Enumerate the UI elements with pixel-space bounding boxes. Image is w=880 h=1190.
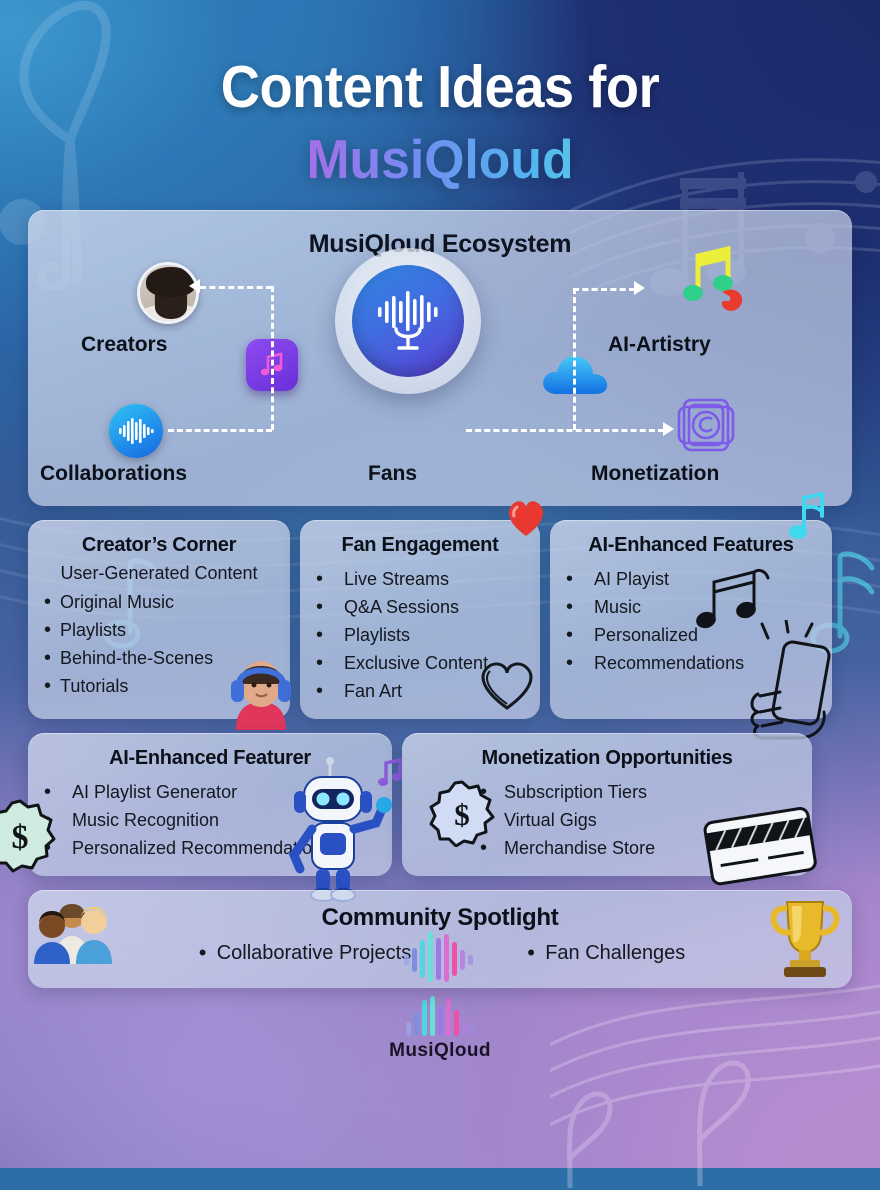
music-note-palette-icon bbox=[682, 246, 748, 325]
waveform-logo-icon bbox=[18, 996, 862, 1036]
list-item[interactable]: Collaborative Projects bbox=[195, 942, 412, 965]
card-title: Fan Engagement bbox=[312, 534, 528, 557]
list-item[interactable]: Personalized Recommendation bbox=[40, 834, 380, 862]
card-title: AI-Enhanced Features bbox=[562, 534, 820, 557]
ecosystem-node-label-monetization: Monetization bbox=[591, 462, 719, 486]
list-item[interactable]: AI Playist bbox=[562, 565, 820, 593]
connector-creators-line bbox=[200, 286, 272, 289]
ecosystem-panel: MusiQloud Ecosystem Creators bbox=[28, 210, 852, 506]
list-item[interactable]: Music bbox=[562, 593, 820, 621]
card-fan-engagement[interactable]: Fan Engagement Live Streams Q&A Sessions… bbox=[300, 520, 540, 719]
list-item[interactable]: Subscription Tiers bbox=[476, 778, 800, 806]
connector-left-vertical bbox=[271, 286, 274, 430]
card-creators-corner[interactable]: Creator’s Corner User-Generated Content … bbox=[28, 520, 290, 719]
page-title: Content Ideas for MusiQloud bbox=[18, 0, 862, 194]
list-item[interactable]: Personalized bbox=[562, 621, 820, 649]
list-item[interactable]: Q&A Sessions bbox=[312, 593, 528, 621]
card-subtitle: User-Generated Content bbox=[40, 563, 278, 584]
card-list: AI Playlist Generator Music Recognition … bbox=[40, 778, 380, 862]
list-item[interactable]: Tutorials bbox=[40, 672, 278, 700]
community-items: Collaborative Projects Fan Challenges bbox=[44, 942, 836, 965]
list-item[interactable]: Exclusive Content bbox=[312, 649, 528, 677]
cards-row-primary: Creator’s Corner User-Generated Content … bbox=[28, 520, 852, 719]
svg-text:$: $ bbox=[454, 797, 470, 832]
community-spotlight-panel: Community Spotlight Collaborative Projec… bbox=[28, 890, 852, 988]
card-monetization-opportunities[interactable]: Monetization Opportunities Subscription … bbox=[402, 733, 812, 876]
ecosystem-node-label-ai-artistry: AI-Artistry bbox=[608, 333, 711, 357]
connector-creators-arrow bbox=[189, 279, 200, 293]
list-item[interactable]: Virtual Gigs bbox=[476, 806, 800, 834]
card-list: Live Streams Q&A Sessions Playlists Excl… bbox=[312, 565, 528, 705]
connector-monetization-line bbox=[466, 429, 664, 432]
list-item[interactable]: Behind-the-Scenes bbox=[40, 644, 278, 672]
title-line-1: Content Ideas for bbox=[52, 58, 828, 117]
card-list: Original Music Playlists Behind-the-Scen… bbox=[40, 588, 278, 700]
list-item[interactable]: Fan Challenges bbox=[523, 942, 685, 965]
cards-row-secondary: AI-Enhanced Featurer AI Playlist Generat… bbox=[28, 733, 852, 876]
stacked-squares-icon bbox=[676, 396, 736, 459]
waveform-circle-icon bbox=[109, 404, 163, 458]
list-item[interactable]: Playlists bbox=[40, 616, 278, 644]
footer: MusiQloud bbox=[18, 996, 862, 1062]
ecosystem-node-label-collaborations: Collaborations bbox=[40, 462, 187, 486]
title-line-2-brand: MusiQloud bbox=[43, 125, 836, 194]
connector-monetization-arrow bbox=[663, 422, 674, 436]
connector-right-vertical bbox=[573, 288, 576, 430]
list-item[interactable]: AI Playlist Generator bbox=[40, 778, 380, 806]
list-item[interactable]: Merchandise Store bbox=[476, 834, 800, 862]
card-list: Subscription Tiers Virtual Gigs Merchand… bbox=[476, 778, 800, 862]
ecosystem-node-label-fans: Fans bbox=[368, 462, 417, 486]
community-title: Community Spotlight bbox=[44, 904, 836, 932]
list-item[interactable]: Fan Art bbox=[312, 677, 528, 705]
connector-ai-artistry-line bbox=[573, 288, 635, 291]
list-item[interactable]: Music Recognition bbox=[40, 806, 380, 834]
card-ai-enhanced-features[interactable]: AI-Enhanced Features AI Playist Music Pe… bbox=[550, 520, 832, 719]
list-item[interactable]: Live Streams bbox=[312, 565, 528, 593]
microphone-waveform-icon bbox=[335, 248, 481, 394]
card-title: Creator’s Corner bbox=[40, 534, 278, 557]
list-item[interactable]: Recommendations bbox=[562, 649, 820, 677]
list-item[interactable]: Original Music bbox=[40, 588, 278, 616]
card-list: AI Playist Music Personalized Recommenda… bbox=[562, 565, 820, 677]
svg-text:$: $ bbox=[12, 819, 29, 856]
card-title: AI-Enhanced Featurer bbox=[40, 747, 380, 770]
connector-collaborations-line bbox=[168, 429, 272, 432]
creator-avatar-icon bbox=[137, 262, 199, 324]
footer-brand-name: MusiQloud bbox=[18, 1040, 862, 1062]
card-ai-enhanced-featurer[interactable]: AI-Enhanced Featurer AI Playlist Generat… bbox=[28, 733, 392, 876]
card-title: Monetization Opportunities bbox=[414, 747, 800, 770]
ecosystem-node-label-creators: Creators bbox=[81, 333, 167, 357]
connector-ai-artistry-arrow bbox=[634, 281, 645, 295]
list-item[interactable]: Playlists bbox=[312, 621, 528, 649]
music-note-small-icon bbox=[378, 760, 402, 786]
